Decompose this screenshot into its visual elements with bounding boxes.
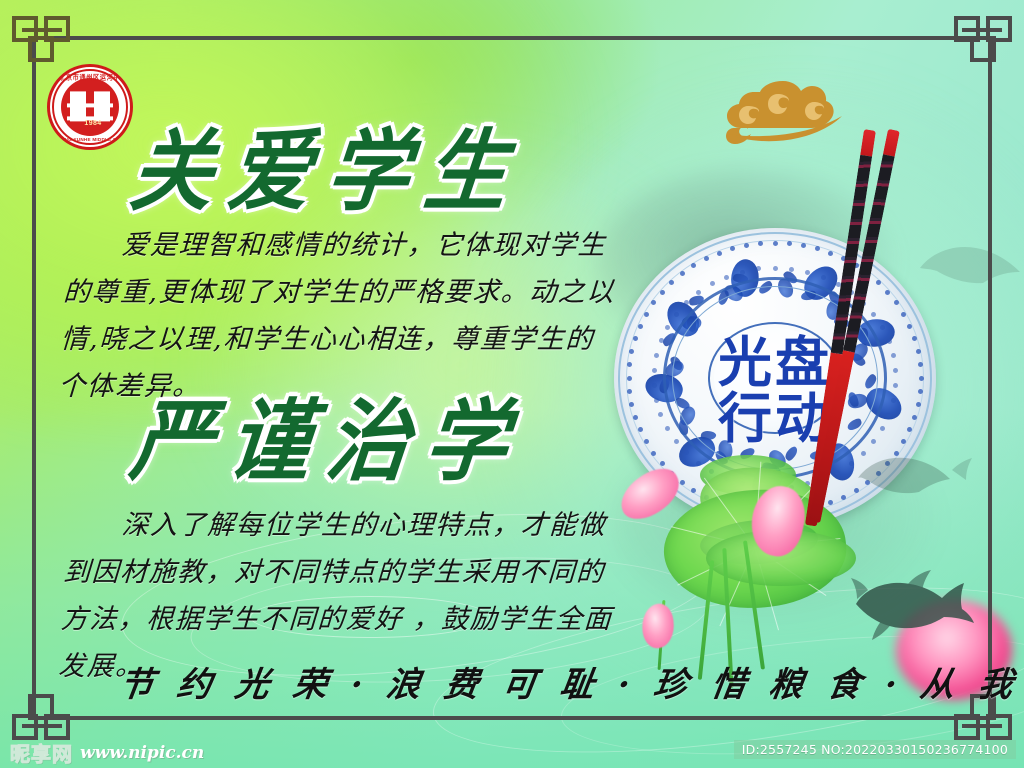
fret-corner-bottomleft	[12, 682, 70, 740]
plate-inner-dot	[684, 300, 689, 305]
plate-inner-dot	[740, 270, 745, 275]
plate-rim-dot	[815, 246, 820, 251]
image-id-watermark: ID:2557245 NO:20220330150236774100	[734, 740, 1016, 759]
school-logo: 北京市通州区运河中学 1984 BEIJING YUNHE MIDDLE SCH…	[47, 64, 133, 150]
plate-rim-dot	[828, 500, 833, 505]
plate-rim-dot	[680, 271, 685, 276]
plate-rim-dot	[773, 241, 778, 246]
plate-inner-dot	[805, 270, 810, 275]
plate-rim-dot	[669, 280, 674, 285]
site-watermark-name: 昵享网	[10, 738, 73, 767]
logo-english-text: BEIJING YUNHE MIDDLE SCHOOL	[50, 137, 133, 142]
chopstick-tip	[883, 129, 900, 157]
plate-rim-dot	[828, 251, 833, 256]
plate-inner-dot	[674, 312, 679, 317]
plate-rim-dot	[691, 488, 696, 493]
plate-rim-dot	[787, 241, 792, 246]
logo-book-icon	[70, 91, 110, 121]
plate-rim-dot	[660, 290, 665, 295]
auspicious-cloud-icon	[718, 62, 850, 146]
plate-rim-dot	[744, 243, 749, 248]
chopsticks	[838, 130, 958, 550]
chopstick-tip	[860, 129, 876, 156]
poster-canvas: 光盘 行动	[0, 0, 1024, 768]
logo-chinese-text: 北京市通州区运河中学	[50, 72, 133, 82]
plate-rim-dot	[680, 480, 685, 485]
plate-rim-dot	[644, 312, 649, 317]
plate-inner-dot	[684, 450, 689, 455]
fret-corner-topleft	[12, 16, 70, 74]
plate-rim-dot	[638, 324, 643, 329]
bottom-slogan: 节 约 光 荣 · 浪 费 可 耻 · 珍 惜 粮 食 · 从 我 做 起	[117, 657, 1024, 706]
plate-rim-dot	[691, 263, 696, 268]
heading-care-for-students: 关爱学生	[125, 99, 531, 228]
plate-inner-dot	[821, 275, 826, 280]
logo-year: 1984	[50, 120, 133, 127]
plate-inner-dot	[756, 266, 761, 271]
site-watermark-url: www.nipic.cn	[80, 743, 204, 763]
ink-fish-icon	[846, 560, 996, 650]
fret-corner-topright	[954, 16, 1012, 74]
plate-inner-dot	[696, 290, 701, 295]
plate-inner-dot	[773, 266, 778, 271]
plate-inner-dot	[710, 281, 715, 286]
plate-rim-dot	[717, 251, 722, 256]
plate-inner-dot	[665, 325, 670, 330]
plate-rim-dot	[758, 241, 763, 246]
plate-rim-dot	[651, 300, 656, 305]
plate-inner-dot	[789, 267, 794, 272]
plate-rim-dot	[651, 451, 656, 456]
paragraph-care-for-students: 爱是理智和感情的统计，它体现对学生的尊重,更体现了对学生的严格要求。动之以情,晓…	[57, 222, 627, 410]
plate-rim-dot	[704, 256, 709, 261]
plate-rim-dot	[801, 243, 806, 248]
plate-rim-dot	[730, 246, 735, 251]
plate-inner-dot	[696, 461, 701, 466]
plate-inner-dot	[724, 275, 729, 280]
plate-rim-dot	[660, 461, 665, 466]
site-watermark: 昵享网 www.nipic.cn	[10, 738, 204, 767]
